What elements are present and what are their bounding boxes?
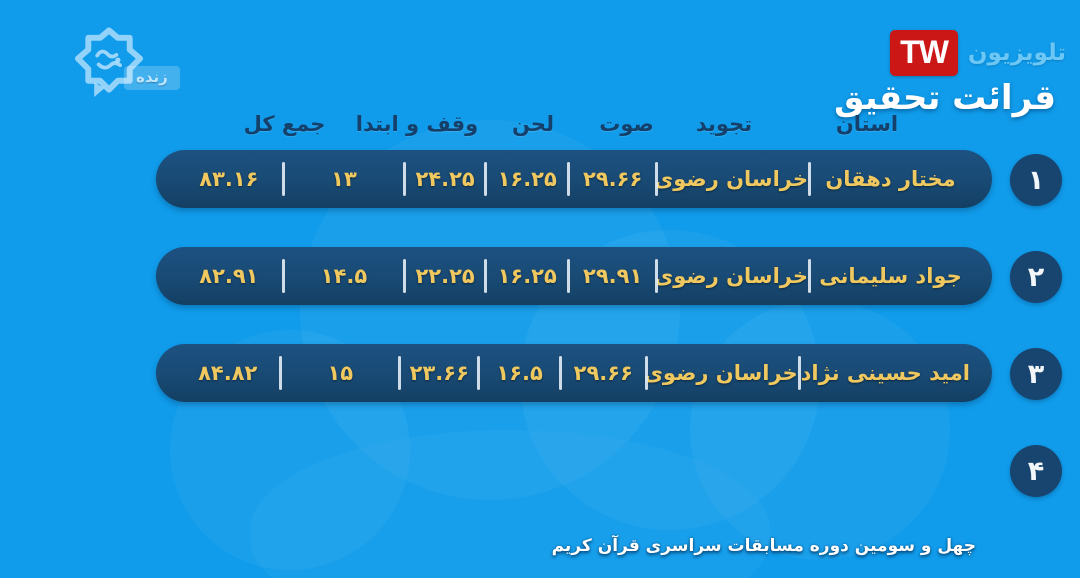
event-caption: چهل و سومین دوره مسابقات سراسری قرآن کری…: [552, 536, 976, 556]
cell-lahn: ۲۳.۶۶: [401, 361, 477, 385]
cell-divider: [403, 162, 406, 196]
scoreboard-rows: ۱ مختار دهقان خراسان رضوی ۲۹.۶۶ ۱۶.۲۵ ۲۴…: [0, 150, 1080, 538]
cell-contestant-name: امید حسینی نژاد: [801, 361, 970, 385]
cell-divider: [559, 356, 562, 390]
cell-sowt: ۱۶.۲۵: [487, 264, 567, 288]
cell-divider: [655, 259, 658, 293]
cell-divider: [484, 162, 487, 196]
rank-badge: ۴: [1010, 445, 1062, 497]
network-identification: TW تلویزیون: [890, 30, 1066, 76]
column-header-province: استان: [774, 112, 960, 136]
row-pill: امید حسینی نژاد خراسان رضوی ۲۹.۶۶ ۱۶.۵ ۲…: [156, 344, 992, 402]
cell-divider: [655, 162, 658, 196]
cell-waqf-ebteda: ۱۳: [285, 167, 403, 191]
cell-waqf-ebteda: ۱۵: [282, 361, 398, 385]
cell-divider: [403, 259, 406, 293]
cell-total: ۸۳.۱۶: [176, 167, 282, 191]
cell-divider: [567, 259, 570, 293]
cell-contestant-name: مختار دهقان: [811, 167, 970, 191]
rank-badge: ۳: [1010, 348, 1062, 400]
cell-tajweed: ۲۹.۶۶: [562, 361, 645, 385]
cell-divider: [477, 356, 480, 390]
cell-divider: [645, 356, 648, 390]
column-header-waqf-ebteda: وقف و ابتدا: [347, 112, 487, 136]
cell-lahn: ۲۲.۲۵: [406, 264, 484, 288]
cell-contestant-name: جواد سلیمانی: [811, 264, 970, 288]
cell-tajweed: ۲۹.۹۱: [570, 264, 655, 288]
cell-lahn: ۲۴.۲۵: [406, 167, 484, 191]
cell-divider: [808, 162, 811, 196]
table-row: ۳ امید حسینی نژاد خراسان رضوی ۲۹.۶۶ ۱۶.۵…: [0, 344, 1080, 441]
cell-divider: [282, 259, 285, 293]
cell-province: خراسان رضوی: [658, 167, 808, 191]
column-header-lahn: لحن: [487, 112, 579, 136]
table-row: ۲ جواد سلیمانی خراسان رضوی ۲۹.۹۱ ۱۶.۲۵ ۲…: [0, 247, 1080, 344]
cell-divider: [398, 356, 401, 390]
column-header-total: جمع کل: [222, 112, 347, 136]
cell-divider: [279, 356, 282, 390]
table-row-pending: ۴: [0, 441, 1080, 538]
column-header-tajweed: تجوید: [674, 112, 774, 136]
cell-divider: [484, 259, 487, 293]
cell-divider: [282, 162, 285, 196]
row-pill: جواد سلیمانی خراسان رضوی ۲۹.۹۱ ۱۶.۲۵ ۲۲.…: [156, 247, 992, 305]
row-pill: مختار دهقان خراسان رضوی ۲۹.۶۶ ۱۶.۲۵ ۲۴.۲…: [156, 150, 992, 208]
column-header-sowt: صوت: [579, 112, 674, 136]
cell-divider: [798, 356, 801, 390]
broadcast-scoreboard-overlay: زنده TW تلویزیون قرائت تحقیق استان تجوید…: [0, 0, 1080, 578]
table-row: ۱ مختار دهقان خراسان رضوی ۲۹.۶۶ ۱۶.۲۵ ۲۴…: [0, 150, 1080, 247]
cell-total: ۸۴.۸۲: [176, 361, 279, 385]
cell-tajweed: ۲۹.۶۶: [570, 167, 655, 191]
column-headers: استان تجوید صوت لحن وقف و ابتدا جمع کل: [128, 104, 960, 144]
rank-badge: ۱: [1010, 154, 1062, 206]
channel-logo: زنده: [62, 22, 212, 102]
live-badge: زنده: [124, 66, 180, 90]
cell-province: خراسان رضوی: [658, 264, 808, 288]
cell-sowt: ۱۶.۲۵: [487, 167, 567, 191]
cell-sowt: ۱۶.۵: [480, 361, 559, 385]
cell-waqf-ebteda: ۱۴.۵: [285, 264, 403, 288]
cell-divider: [808, 259, 811, 293]
rank-badge: ۲: [1010, 251, 1062, 303]
cell-divider: [567, 162, 570, 196]
tw-logo: TW: [890, 30, 958, 76]
network-name-label: تلویزیون: [968, 40, 1066, 66]
cell-province: خراسان رضوی: [648, 361, 798, 385]
cell-total: ۸۲.۹۱: [176, 264, 282, 288]
